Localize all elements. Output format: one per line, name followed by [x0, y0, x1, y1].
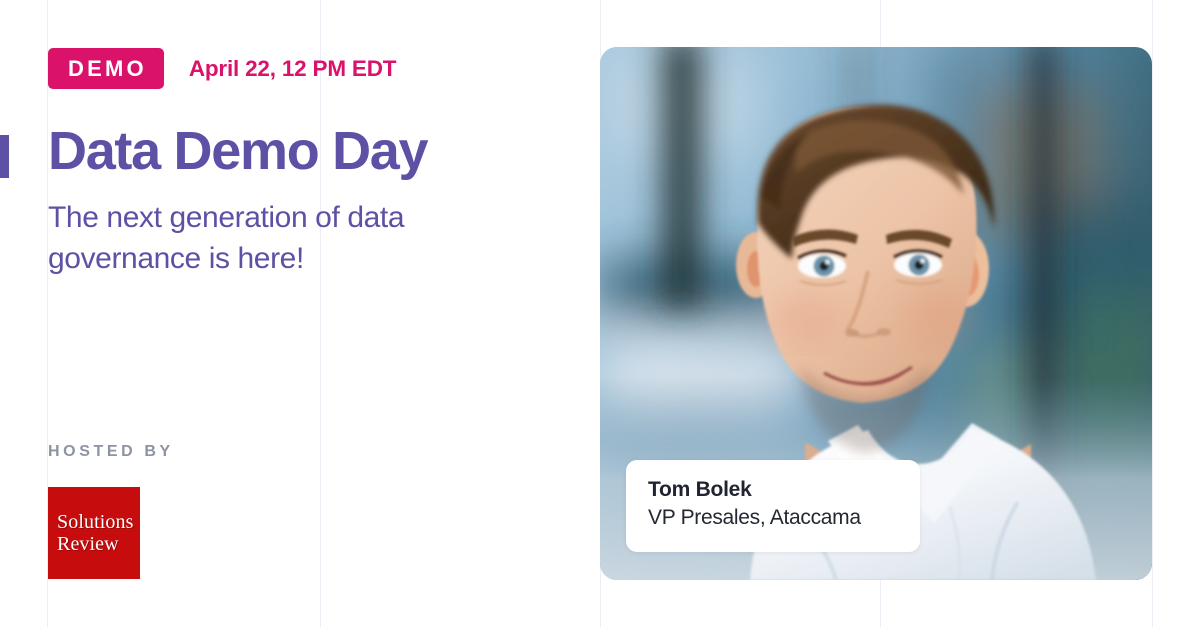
title-bleed-glyph — [0, 135, 9, 178]
event-date: April 22, 12 PM EDT — [189, 56, 397, 82]
grid-line — [1152, 0, 1153, 627]
webinar-promo-banner: DEMO April 22, 12 PM EDT Data Demo Day T… — [0, 0, 1200, 627]
page-title: Data Demo Day — [48, 122, 427, 180]
solutions-review-logo: Solutions Review — [48, 487, 140, 579]
page-subtitle: The next generation of data governance i… — [48, 198, 478, 280]
demo-badge: DEMO — [48, 48, 164, 89]
logo-line-1: Solutions — [57, 511, 140, 533]
banner-content-column: DEMO April 22, 12 PM EDT Data Demo Day T… — [48, 0, 588, 627]
speaker-role: VP Presales, Ataccama — [648, 505, 920, 531]
speaker-name: Tom Bolek — [648, 477, 920, 503]
speaker-name-card: Tom Bolek VP Presales, Ataccama — [626, 460, 920, 552]
logo-line-2: Review — [57, 533, 140, 555]
hosted-by-label: HOSTED BY — [48, 444, 174, 460]
eyebrow-row: DEMO April 22, 12 PM EDT — [48, 48, 396, 89]
